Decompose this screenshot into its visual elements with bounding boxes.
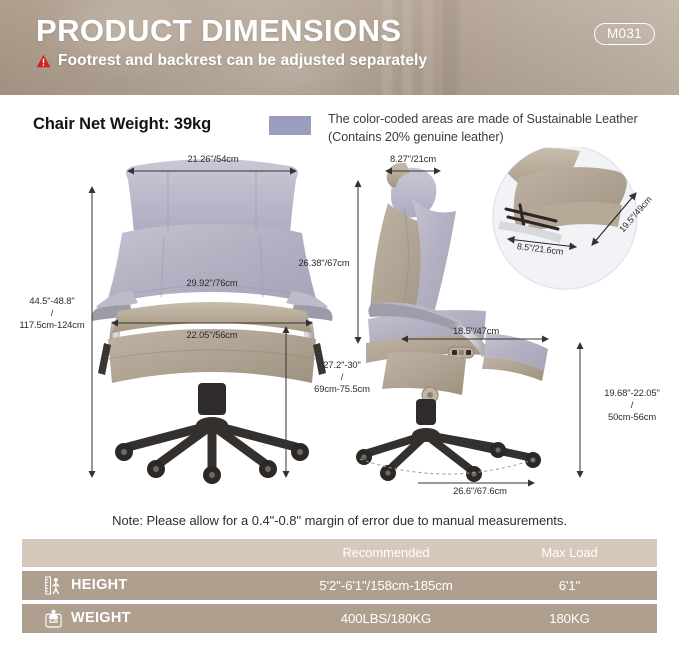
dim-front-seat-height-range: 27.2"-30" / 69cm-75.5cm xyxy=(296,359,388,395)
measurement-note: Note: Please allow for a 0.4"-0.8" margi… xyxy=(0,507,679,528)
table-row-label-text: HEIGHT xyxy=(71,577,128,593)
table-cell-recommended: 5'2"-6'1"/158cm-185cm xyxy=(290,578,482,593)
dim-front-backrest-width: 21.26"/54cm xyxy=(163,153,263,165)
leather-color-swatch xyxy=(269,116,311,135)
header-subtitle: Footrest and backrest can be adjusted se… xyxy=(58,52,427,70)
dim-front-overall-height: 44.5"-48.8" / 117.5cm-124cm xyxy=(6,295,98,331)
height-person-ruler-icon xyxy=(45,576,62,595)
page-title: PRODUCT DIMENSIONS xyxy=(36,14,679,47)
weight-scale-icon xyxy=(45,609,62,628)
chair-net-weight: Chair Net Weight: 39kg xyxy=(33,111,269,134)
dim-front-seat-width: 22.05"/56cm xyxy=(162,329,262,341)
model-badge: M031 xyxy=(594,23,655,45)
table-row-label-height: HEIGHT xyxy=(22,576,290,595)
front-view-chair-illustration xyxy=(92,159,333,484)
table-header-row: Recommended Max Load xyxy=(22,539,657,567)
specification-table: Recommended Max Load HEIGHT 5'2"-6'1"/15… xyxy=(22,539,657,633)
table-cell-max-load: 180KG xyxy=(482,611,657,626)
dim-front-backrest-inner-height: 29.92"/76cm xyxy=(162,277,262,289)
page-header: PRODUCT DIMENSIONS Footrest and backrest… xyxy=(0,0,679,95)
dim-side-backrest-height: 26.38"/67cm xyxy=(288,257,360,269)
warning-triangle-icon xyxy=(36,54,51,68)
legend-description-line1: The color-coded areas are made of Sustai… xyxy=(328,111,638,129)
dim-side-seat-depth: 18.5"/47cm xyxy=(428,325,524,337)
footrest-detail-inset-illustration xyxy=(493,147,637,289)
diagram-svg xyxy=(0,147,679,507)
table-header-recommended: Recommended xyxy=(290,545,482,560)
table-cell-recommended: 400LBS/180KG xyxy=(290,611,482,626)
table-header-max-load: Max Load xyxy=(482,545,657,560)
dim-side-base-diameter: 26.6"/67.6cm xyxy=(428,485,532,497)
dim-side-seat-to-floor-range: 19.68"-22.05" / 50cm-56cm xyxy=(588,387,676,423)
legend-description: The color-coded areas are made of Sustai… xyxy=(328,111,638,147)
header-subtitle-row: Footrest and backrest can be adjusted se… xyxy=(36,52,679,70)
table-cell-max-load: 6'1" xyxy=(482,578,657,593)
table-row: WEIGHT 400LBS/180KG 180KG xyxy=(22,604,657,633)
legend-description-line2: (Contains 20% genuine leather) xyxy=(328,129,638,147)
table-row-label-text: WEIGHT xyxy=(71,610,131,626)
legend-row: Chair Net Weight: 39kg The color-coded a… xyxy=(0,95,679,147)
dim-side-headrest-depth: 8.27"/21cm xyxy=(370,153,456,165)
table-row: HEIGHT 5'2"-6'1"/158cm-185cm 6'1" xyxy=(22,571,657,600)
dimension-diagrams: 21.26"/54cm 44.5"-48.8" / 117.5cm-124cm … xyxy=(0,147,679,507)
table-row-label-weight: WEIGHT xyxy=(22,609,290,628)
